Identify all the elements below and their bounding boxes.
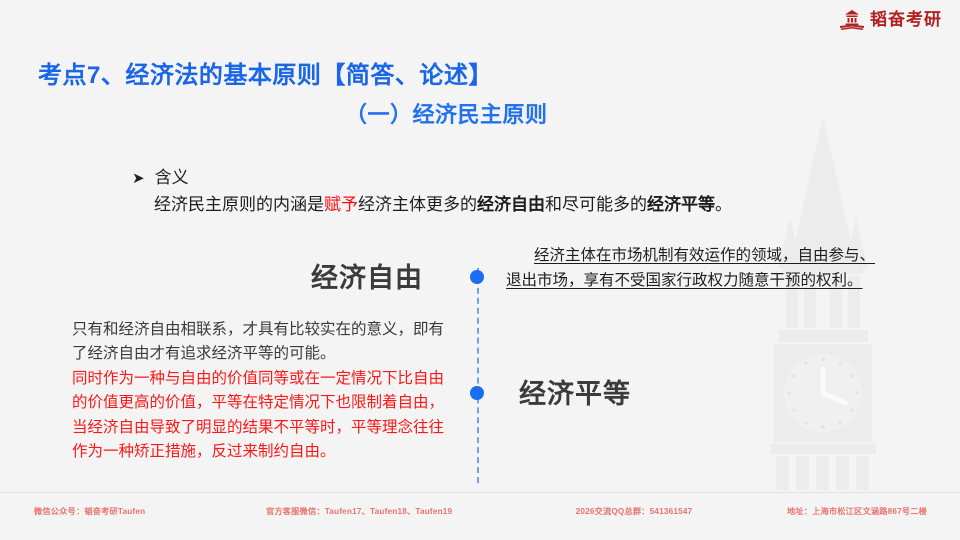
page-title: 考点7、经济法的基本原则【简答、论述】 — [38, 55, 493, 90]
equality-explanation-gray: 只有和经济自由相联系，才具有比较实在的意义，即有了经济自由才有追求经济平等的可能… — [72, 318, 444, 367]
meaning-text-end: 。 — [715, 195, 732, 215]
meaning-body-text: 经济民主原则的内涵是赋予经济主体更多的经济自由和尽可能多的经济平等。 — [154, 194, 732, 217]
page-subtitle: （一）经济民主原则 — [345, 97, 548, 129]
meaning-text-part2: 经济主体更多的 — [358, 195, 477, 215]
clock-tower-watermark-icon — [728, 110, 918, 490]
meaning-heading-label: 含义 — [155, 163, 189, 188]
arrow-bullet-icon: ➤ — [132, 171, 145, 186]
meaning-text-part1: 经济民主原则的内涵是 — [154, 195, 324, 215]
node-dot-freedom — [470, 270, 484, 284]
meaning-section: ➤ 含义 经济民主原则的内涵是赋予经济主体更多的经济自由和尽可能多的经济平等。 — [132, 163, 732, 217]
concept-label-freedom: 经济自由 — [311, 256, 423, 295]
timeline-connector — [474, 268, 482, 483]
equality-explanation-red: 同时作为一种与自由的价值同等或在一定情况下比自由的价值更高的价值，平等在特定情况… — [72, 367, 444, 465]
node-dot-equality — [470, 386, 484, 400]
meaning-text-bold-freedom: 经济自由 — [477, 195, 545, 215]
brand-logo: 韬奋考研 — [839, 9, 942, 31]
dashed-line — [477, 268, 479, 483]
slide-canvas: 韬奋考研 考点7、经济法的基本原则【简答、论述】 （一）经济民主原则 ➤ 含义 … — [0, 0, 960, 540]
footer-bar: 微信公众号：韬奋考研Taufen 官方客服微信：Taufen17、Taufen1… — [0, 493, 960, 540]
meaning-text-highlight: 赋予 — [324, 195, 358, 215]
book-building-icon — [839, 9, 865, 31]
meaning-text-part3: 和尽可能多的 — [545, 195, 647, 215]
footer-wechat-official: 微信公众号：韬奋考研Taufen — [0, 493, 266, 518]
freedom-definition-body: 经济主体在市场机制有效运作的领域，自由参与、退出市场，享有不受国家行政权力随意干… — [506, 246, 875, 289]
freedom-definition-text: 经济主体在市场机制有效运作的领域，自由参与、退出市场，享有不受国家行政权力随意干… — [506, 243, 880, 293]
meaning-heading-row: ➤ 含义 — [132, 163, 732, 188]
footer-wechat-service: 官方客服微信：Taufen17、Taufen18、Taufen19 — [266, 493, 514, 518]
footer-address: 地址：上海市松江区文涵路867号二楼 — [754, 493, 960, 518]
concept-label-equality: 经济平等 — [519, 372, 631, 411]
equality-explanation-text: 只有和经济自由相联系，才具有比较实在的意义，即有了经济自由才有追求经济平等的可能… — [72, 318, 444, 465]
footer-qq-group: 2026交流QQ总群：541361547 — [514, 493, 754, 518]
logo-text: 韬奋考研 — [870, 12, 942, 29]
meaning-text-bold-equality: 经济平等 — [647, 195, 715, 215]
